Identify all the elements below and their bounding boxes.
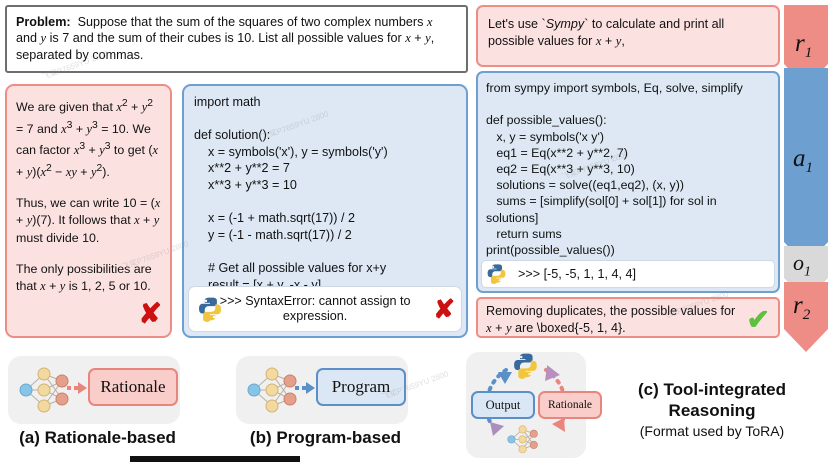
- tir-action-1-box: from sympy import symbols, Eq, solve, si…: [476, 71, 780, 293]
- arrow-head-blue-top: [498, 372, 512, 384]
- arrow-label-o1: o1: [793, 250, 811, 280]
- program-output-text: >>> SyntaxError: cannot assign to expres…: [195, 294, 431, 324]
- arrow-head-red-bottom: [552, 418, 565, 432]
- legend-a-caption: (a) Rationale-based: [0, 428, 195, 448]
- legend-c-pill-rationale: Rationale: [538, 391, 602, 419]
- rationale-paragraph-2: Thus, we can write 10 = (x + y)(7). It f…: [16, 195, 162, 248]
- tir-action-1-code: from sympy import symbols, Eq, solve, si…: [478, 80, 778, 258]
- problem-text: Problem: Suppose that the sum of the squ…: [16, 14, 457, 63]
- legend-c-caption-line1: (c) Tool-integrated: [596, 379, 828, 400]
- tir-rationale-1-box: Let's use `Sympy` to calculate and print…: [476, 5, 780, 67]
- program-code: import math def solution(): x = symbols(…: [184, 94, 466, 293]
- tir-rationale-1-text: Let's use `Sympy` to calculate and print…: [488, 16, 768, 50]
- legend-b-pill: Program: [316, 368, 406, 406]
- program-panel: import math def solution(): x = symbols(…: [182, 84, 468, 338]
- cross-icon: ✘: [139, 297, 162, 330]
- problem-label: Problem:: [16, 15, 71, 29]
- tir-observation-1-text: >>> [-5, -5, 1, 1, 4, 4]: [510, 267, 636, 281]
- arrow-label-r1: r1: [795, 30, 812, 62]
- tir-rationale-2-box: Removing duplicates, the possible values…: [476, 297, 780, 338]
- rationale-paragraph-3: The only possibilities are that x + y is…: [16, 261, 162, 296]
- dotted-arrow-right-icon: [294, 380, 316, 396]
- rationale-paragraph-1: We are given that x2 + y2 = 7 and x3 + y…: [16, 95, 162, 182]
- legend-a-pill: Rationale: [88, 368, 178, 406]
- legend-c-caption-line2: Reasoning: [596, 400, 828, 421]
- program-output-bar: >>> SyntaxError: cannot assign to expres…: [188, 286, 462, 332]
- arrow-head-purple-bottom: [490, 422, 504, 436]
- rationale-panel: We are given that x2 + y2 = 7 and x3 + y…: [5, 84, 172, 338]
- tir-rationale-2-text: Removing duplicates, the possible values…: [486, 303, 768, 337]
- bottom-bar: [130, 456, 300, 462]
- tir-observation-1-bar: >>> [-5, -5, 1, 1, 4, 4]: [481, 260, 775, 288]
- arrow-label-a1: a1: [793, 145, 813, 177]
- legend-b-caption: (b) Program-based: [228, 428, 423, 448]
- legend-c-subcaption: (Format used by ToRA): [596, 423, 828, 439]
- problem-box: Problem: Suppose that the sum of the squ…: [5, 5, 468, 73]
- python-logo-icon: [197, 296, 223, 322]
- legend-c-pill-output: Output: [471, 391, 535, 419]
- python-logo-icon: [486, 263, 507, 284]
- legend-c-caption: (c) Tool-integrated Reasoning: [596, 379, 828, 421]
- cross-icon: ✘: [431, 294, 455, 325]
- check-icon: ✔: [747, 303, 770, 336]
- dotted-arrow-right-icon: [66, 380, 88, 396]
- arrow-label-r2: r2: [793, 292, 810, 324]
